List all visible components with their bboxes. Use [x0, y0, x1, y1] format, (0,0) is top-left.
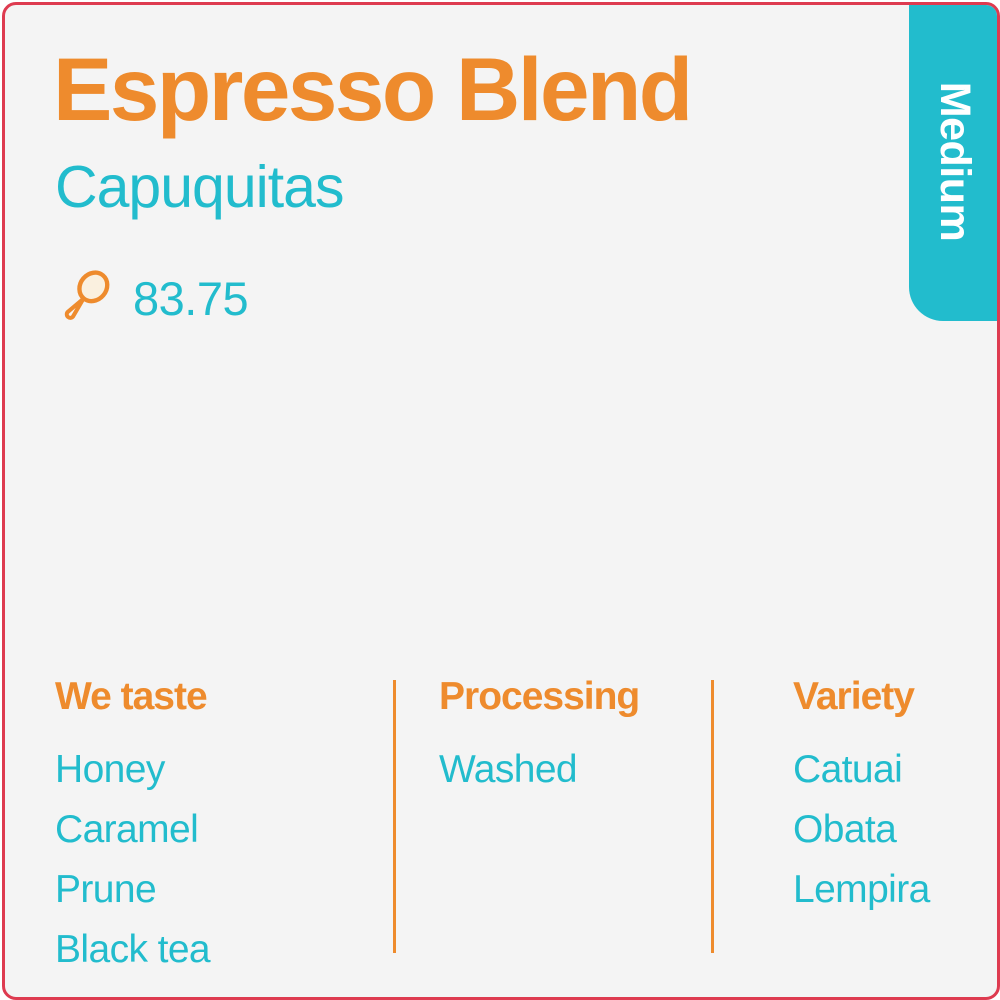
cupping-spoon-icon: [53, 267, 115, 329]
attribute-list: Washed: [439, 750, 711, 789]
attribute-item: Washed: [439, 750, 711, 789]
attribute-item: Lempira: [793, 870, 951, 909]
attribute-columns: We taste Honey Caramel Prune Black tea P…: [51, 677, 951, 990]
attribute-item: Prune: [55, 870, 393, 909]
attribute-column-variety: Variety Catuai Obata Lempira: [711, 677, 951, 990]
attribute-heading: We taste: [55, 677, 393, 716]
attribute-item: Obata: [793, 810, 951, 849]
attribute-list: Catuai Obata Lempira: [793, 750, 951, 909]
attribute-list: Honey Caramel Prune Black tea: [55, 750, 393, 969]
roast-level-badge: Medium: [909, 2, 1000, 321]
attribute-item: Catuai: [793, 750, 951, 789]
card-header: Espresso Blend Capuquitas: [53, 45, 873, 217]
attribute-column-we-taste: We taste Honey Caramel Prune Black tea: [51, 677, 393, 990]
attribute-item: Caramel: [55, 810, 393, 849]
attribute-item: Black tea: [55, 930, 393, 969]
product-subtitle: Capuquitas: [55, 158, 873, 217]
attribute-heading: Processing: [439, 677, 711, 716]
attribute-item: Honey: [55, 750, 393, 789]
product-title: Espresso Blend: [53, 45, 873, 134]
attribute-heading: Variety: [793, 677, 951, 716]
attribute-column-processing: Processing Washed: [393, 677, 711, 990]
cupping-score-value: 83.75: [133, 275, 248, 322]
coffee-product-card: Medium Espresso Blend Capuquitas 83.75 W…: [2, 2, 1000, 1000]
roast-level-label: Medium: [931, 81, 980, 240]
cupping-score-row: 83.75: [53, 267, 248, 329]
